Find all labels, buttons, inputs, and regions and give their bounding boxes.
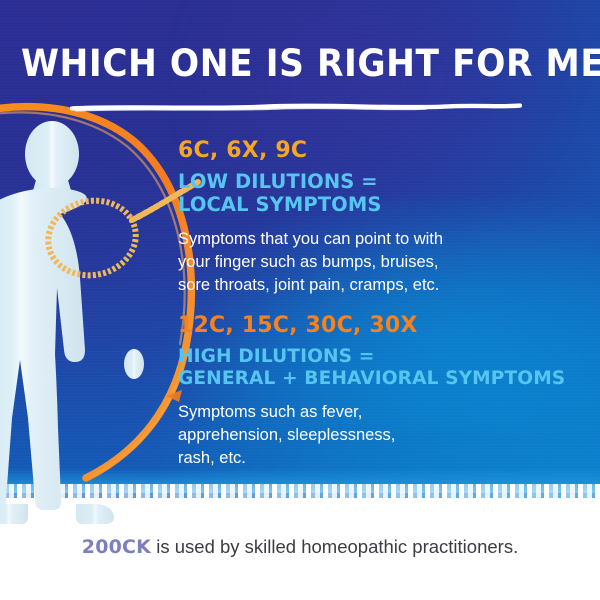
footer-note: 200CK is used by skilled homeopathic pra… [0,536,600,558]
subheading-low-line2: LOCAL SYMPTOMS [178,194,443,217]
body-text-high: Symptoms such as fever, apprehension, sl… [178,401,565,469]
subheading-low-line1: LOW DILUTIONS = [178,171,443,194]
subheading-high-line1: HIGH DILUTIONS = [178,346,565,368]
potency-list-high: 12C, 15C, 30C, 30X [178,314,565,337]
white-brush-underline [70,99,522,108]
footer-note-text: is used by skilled homeopathic practitio… [151,536,518,557]
infographic-poster: WHICH ONE IS RIGHT FOR ME? 6C, 6X, 9C LO… [0,0,600,600]
subheading-high-line2: GENERAL + BEHAVIORAL SYMPTOMS [178,368,565,390]
footer-potency-code: 200CK [82,536,151,558]
page-title: WHICH ONE IS RIGHT FOR ME? [21,42,579,85]
potency-list-low: 6C, 6X, 9C [178,139,443,162]
body-text-low: Symptoms that you can point to with your… [178,228,443,296]
dilution-block-low: 6C, 6X, 9C LOW DILUTIONS = LOCAL SYMPTOM… [178,139,443,297]
dilution-block-high: 12C, 15C, 30C, 30X HIGH DILUTIONS = GENE… [178,314,565,470]
